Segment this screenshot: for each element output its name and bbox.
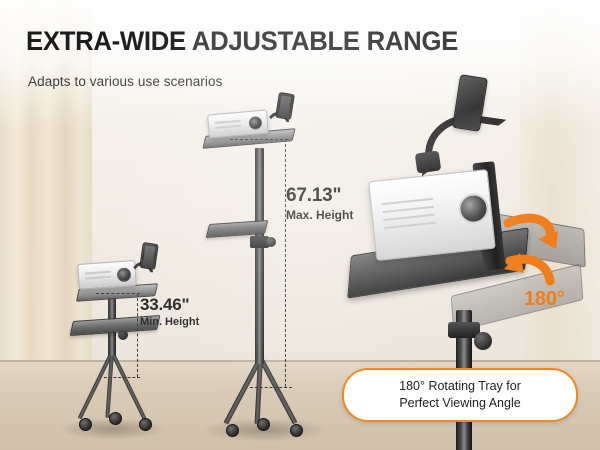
phone-low-screen (143, 245, 156, 266)
min-height-caption: Min. Height (140, 316, 199, 328)
closeup-vent-4 (384, 222, 436, 229)
caption-pill: 180° Rotating Tray for Perfect Viewing A… (342, 368, 578, 422)
guide-line-max-top (230, 139, 288, 140)
page-title: EXTRA-WIDE ADJUSTABLE RANGE (26, 26, 458, 57)
caster-high-1 (290, 424, 303, 437)
closeup-vent-1 (381, 198, 433, 205)
projector-low-vent-1 (85, 271, 111, 275)
guide-line-max-bottom (250, 387, 292, 388)
guide-line-min-vertical (137, 293, 138, 377)
rotation-degrees-label: 180° (524, 288, 565, 311)
projector-high-vent-1 (215, 120, 241, 124)
knob-high (266, 237, 276, 247)
caption-line-2: Perfect Viewing Angle (399, 395, 520, 412)
headline-strong: EXTRA-WIDE (26, 26, 186, 56)
guide-line-min-bottom (104, 377, 140, 378)
guide-line-max-vertical (285, 139, 286, 387)
headline-light: ADJUSTABLE RANGE (192, 26, 458, 56)
min-height-value: 33.46" (140, 296, 199, 314)
pole-high (255, 148, 264, 364)
closeup-knob-upper (474, 332, 492, 350)
product-infographic: 67.13" Max. Height 33.46" Min. Height (0, 0, 600, 450)
caster-high-2 (226, 424, 239, 437)
projector-high-lens (248, 116, 262, 130)
projector-high-vent-2 (215, 125, 241, 129)
caster-low-1 (139, 418, 152, 431)
page-subtitle: Adapts to various use scenarios (28, 74, 222, 89)
guide-line-min-top (96, 293, 140, 294)
caster-high-3 (257, 418, 270, 431)
measurement-min-height: 33.46" Min. Height (140, 296, 199, 328)
caster-low-2 (79, 418, 92, 431)
rotation-arrow-icon (498, 205, 564, 301)
closeup-vent-3 (383, 214, 435, 221)
phone-high-screen (278, 95, 291, 116)
caption-line-1: 180° Rotating Tray for (399, 378, 521, 395)
closeup-projector-lens (457, 192, 490, 225)
closeup-vent-2 (382, 206, 434, 213)
rotation-arrows (498, 205, 564, 301)
caster-low-3 (109, 412, 122, 425)
projector-low-vent-2 (85, 276, 111, 280)
closeup-arm-joint (415, 150, 442, 173)
